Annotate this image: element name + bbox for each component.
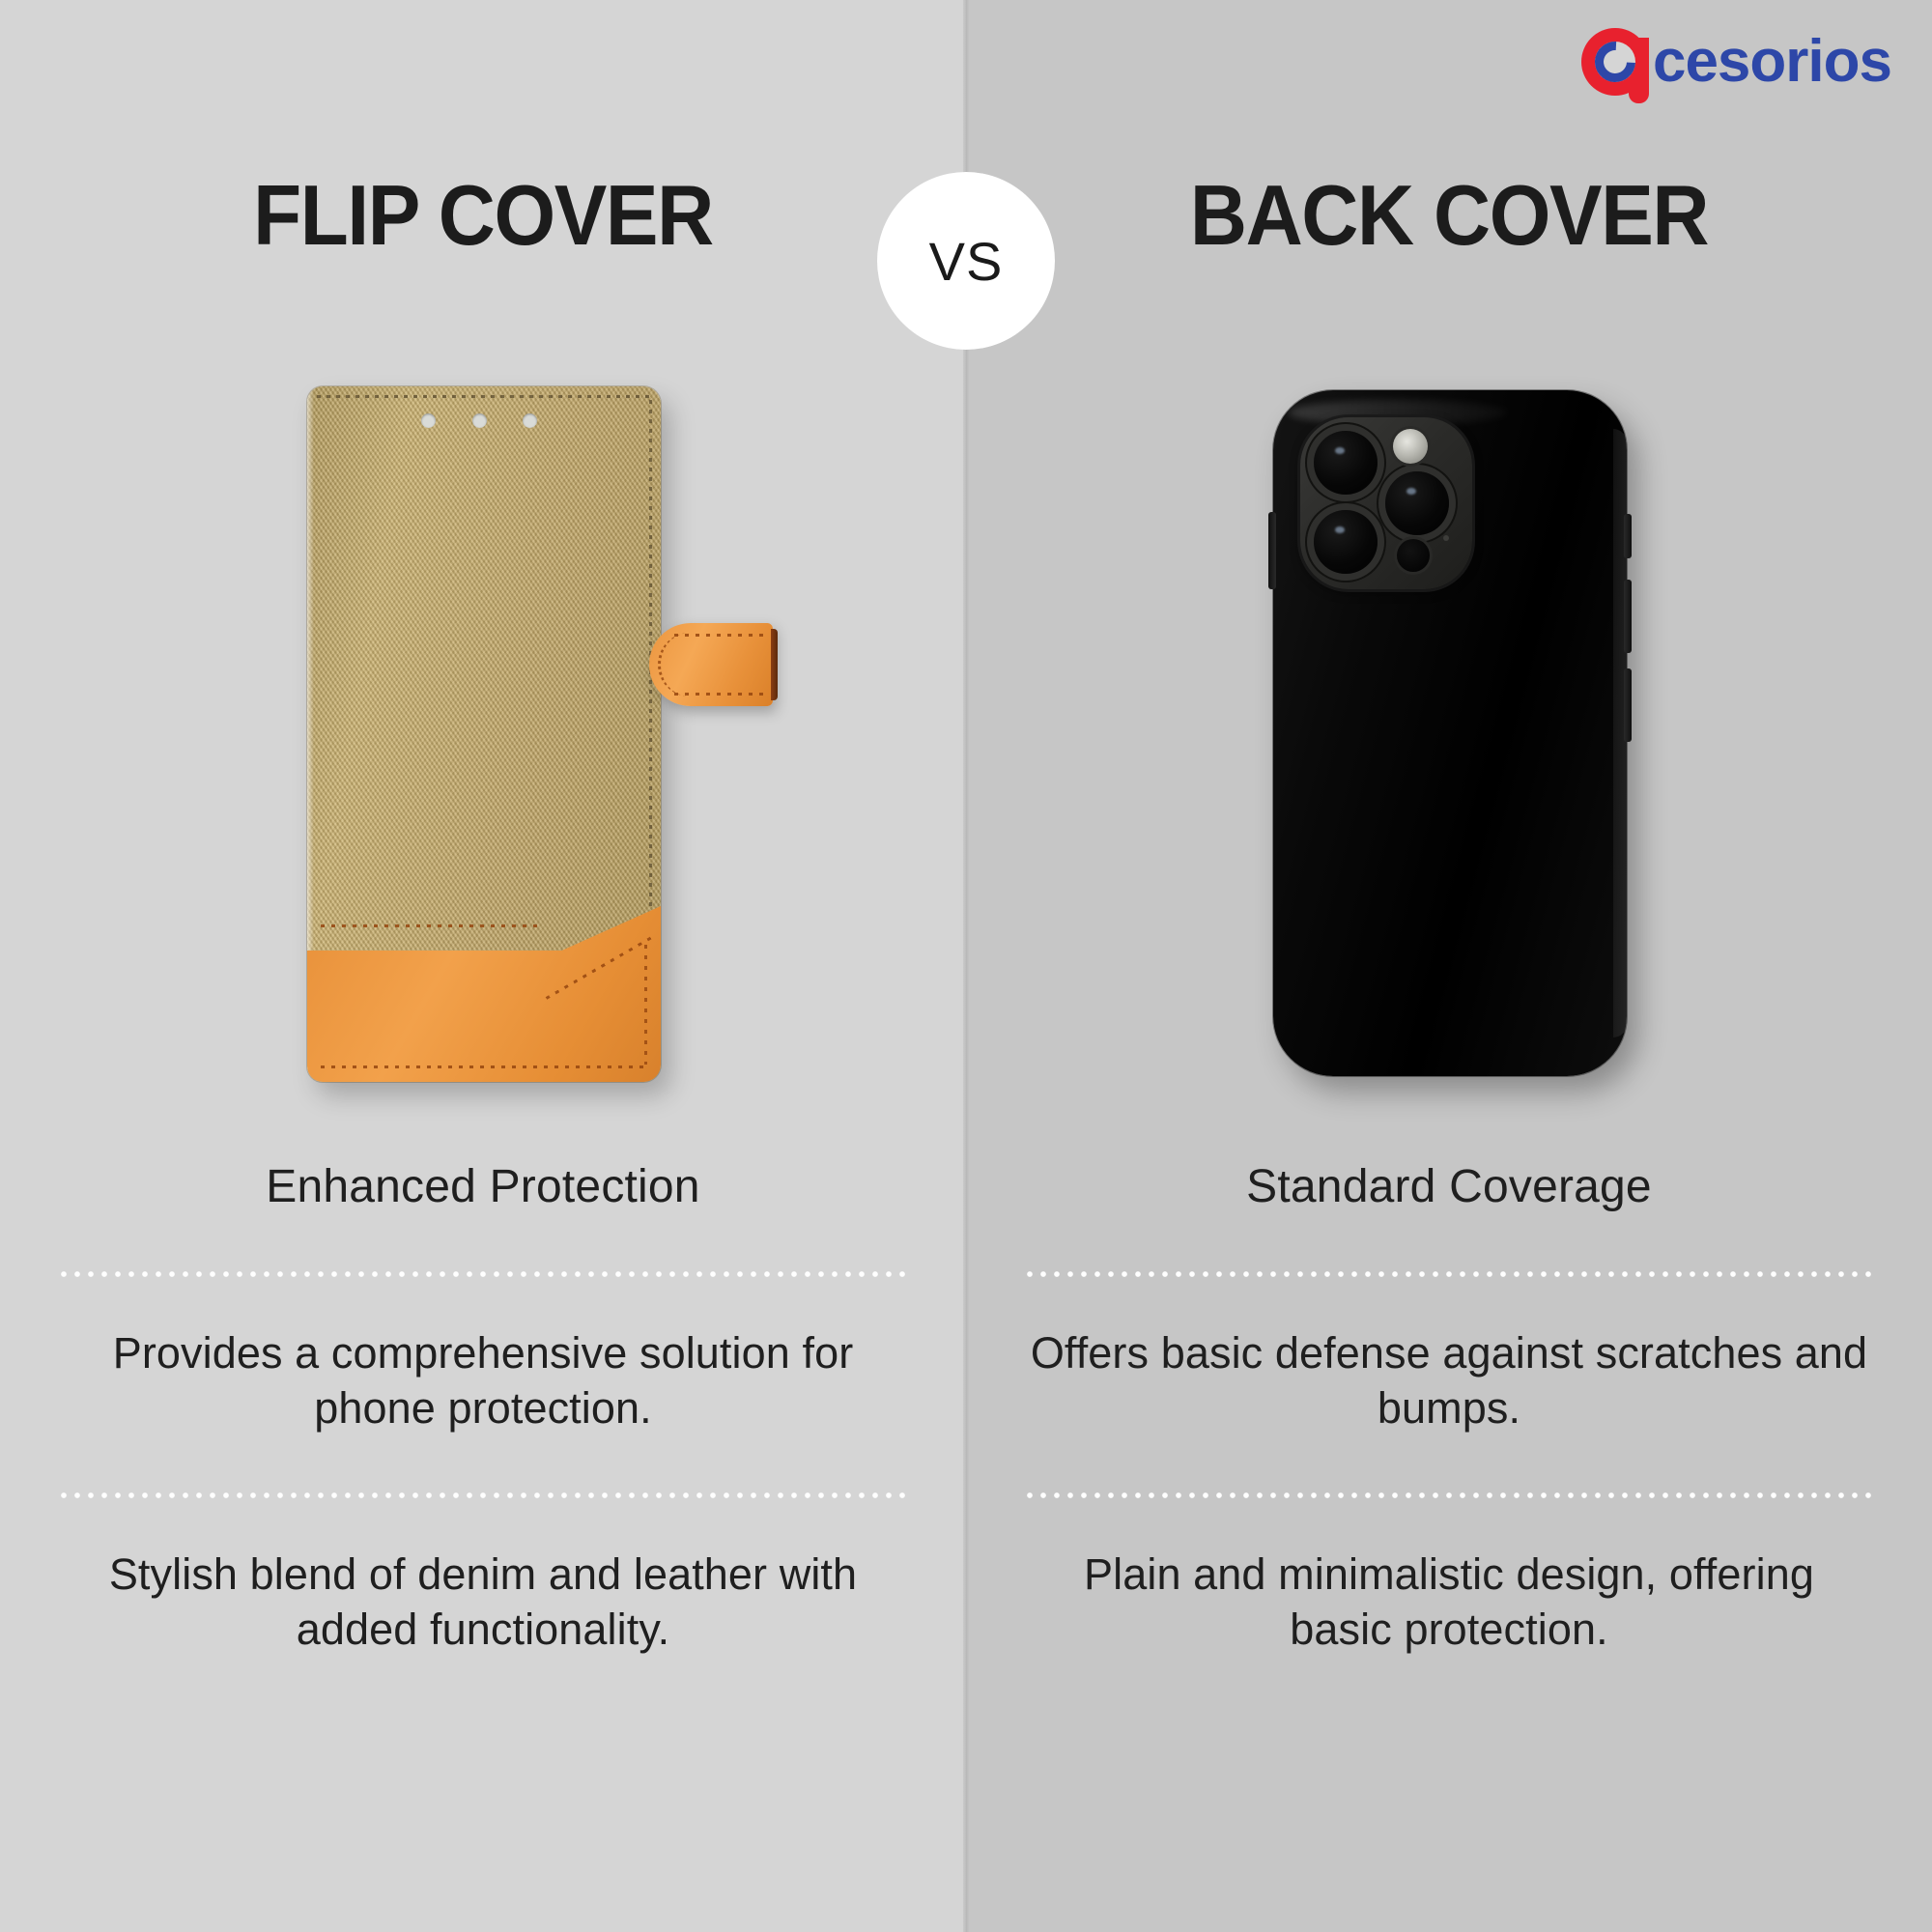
case-side-button-cutout — [1624, 668, 1632, 742]
case-power-button-cutout — [1624, 580, 1632, 653]
right-feature-1: Offers basic defense against scratches a… — [1014, 1325, 1884, 1436]
left-feature-1: Provides a comprehensive solution for ph… — [48, 1325, 918, 1436]
left-heading: FLIP COVER — [88, 162, 878, 269]
microphone-dot-icon — [1443, 535, 1449, 541]
right-feature-2: Plain and minimalistic design, offering … — [1014, 1547, 1884, 1658]
brand-logo: cesorios — [1581, 21, 1891, 102]
infographic-canvas: cesorios FLIP COVER BACK COVER VS — [0, 0, 1932, 1932]
right-feature-column: Standard Coverage Offers basic defense a… — [1014, 1159, 1884, 1658]
flip-cover-leather-base — [307, 906, 661, 1082]
case-volume-button-cutout — [1268, 512, 1276, 589]
left-divider-2 — [58, 1491, 908, 1500]
camera-lens-ultrawide-icon — [1314, 510, 1378, 574]
flip-cover-magnetic-flap-icon — [649, 623, 773, 706]
right-divider-1 — [1024, 1269, 1874, 1279]
left-divider-1 — [58, 1269, 908, 1279]
left-product-stage — [0, 367, 966, 1140]
vs-badge: VS — [877, 172, 1055, 350]
camera-flash-icon — [1393, 429, 1428, 464]
camera-module-icon — [1300, 417, 1472, 589]
case-action-button-cutout — [1624, 514, 1632, 558]
brand-logo-text: cesorios — [1653, 32, 1891, 92]
flip-cover-camera-holes — [421, 413, 537, 431]
flip-cover-base-stitching-bottom — [321, 1065, 645, 1068]
right-divider-2 — [1024, 1491, 1874, 1500]
right-heading: BACK COVER — [1054, 162, 1844, 269]
lidar-sensor-icon — [1397, 539, 1430, 572]
back-cover-product-icon — [1273, 390, 1627, 1076]
flip-cover-base-stitching-top — [321, 924, 540, 927]
left-feature-2: Stylish blend of denim and leather with … — [48, 1547, 918, 1658]
flip-cover-top-stitching — [317, 395, 651, 398]
left-feature-title: Enhanced Protection — [48, 1159, 918, 1215]
right-feature-title: Standard Coverage — [1014, 1159, 1884, 1215]
logo-a-icon — [1581, 26, 1653, 98]
flip-cover-side-stitching — [649, 400, 652, 966]
right-product-stage — [966, 367, 1932, 1140]
camera-lens-telephoto-icon — [1385, 471, 1449, 535]
camera-lens-wide-icon — [1314, 431, 1378, 495]
left-feature-column: Enhanced Protection Provides a comprehen… — [48, 1159, 918, 1658]
flip-cover-product-icon — [307, 386, 661, 1082]
flip-cover-base-stitching-right — [644, 945, 647, 1065]
